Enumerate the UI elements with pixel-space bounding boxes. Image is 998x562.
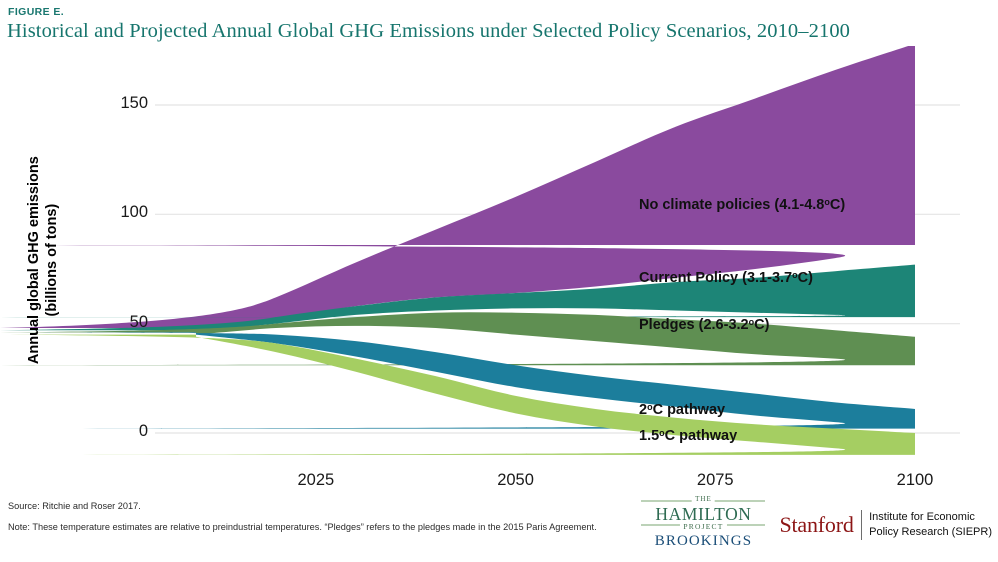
x-tick-label: 2025 [276,471,356,490]
figure-label: FIGURE E. [8,6,64,18]
stanford-siepr-logo: Stanford Institute for Economic Policy R… [779,510,992,540]
y-axis-title: Annual global GHG emissions (billions of… [25,145,61,375]
hamilton-logo-box: THE HAMILTON PROJECT [641,500,765,527]
y-axis-title-line2: (billions of tons) [43,145,61,375]
logo-divider [861,510,863,540]
explanatory-note: Note: These temperature estimates are re… [8,520,598,534]
ghg-emissions-area-chart [0,46,998,486]
series-label-2c-pathway: 2oC pathway [639,402,725,418]
hamilton-project-logo: THE HAMILTON PROJECT BROOKINGS [641,500,765,551]
siepr-line-1: Institute for Economic [869,510,992,525]
x-tick-label: 2075 [675,471,755,490]
y-tick-label: 50 [88,313,148,332]
figure-title: Historical and Projected Annual Global G… [7,20,850,43]
chart-plot-area: Annual global GHG emissions (billions of… [0,46,998,486]
hamilton-the-text: THE [692,495,715,503]
brookings-text: BROOKINGS [655,533,752,550]
figure-footer: Source: Ritchie and Roser 2017. Note: Th… [0,492,998,562]
figure-container: FIGURE E. Historical and Projected Annua… [0,0,998,562]
y-tick-label: 100 [88,203,148,222]
y-tick-label: 150 [88,94,148,113]
siepr-line-2: Policy Research (SIEPR) [869,525,992,540]
siepr-text: Institute for Economic Policy Research (… [869,510,992,540]
series-label-current-policy: Current Policy (3.1-3.7oC) [639,270,813,286]
stanford-wordmark: Stanford [779,512,853,538]
logo-group: THE HAMILTON PROJECT BROOKINGS Stanford … [641,494,992,556]
hamilton-main-text: HAMILTON [641,503,765,524]
x-tick-label: 2100 [875,471,955,490]
source-note: Source: Ritchie and Roser 2017. [8,501,141,511]
series-label-no-climate-policies: No climate policies (4.1-4.8oC) [639,197,845,213]
series-label-1-5c-pathway: 1.5oC pathway [639,428,737,444]
y-tick-label: 0 [88,422,148,441]
hamilton-project-text: PROJECT [680,522,726,531]
x-tick-label: 2050 [476,471,556,490]
y-axis-title-line1: Annual global GHG emissions [25,145,43,375]
series-label-pledges: Pledges (2.6-3.2oC) [639,317,769,333]
